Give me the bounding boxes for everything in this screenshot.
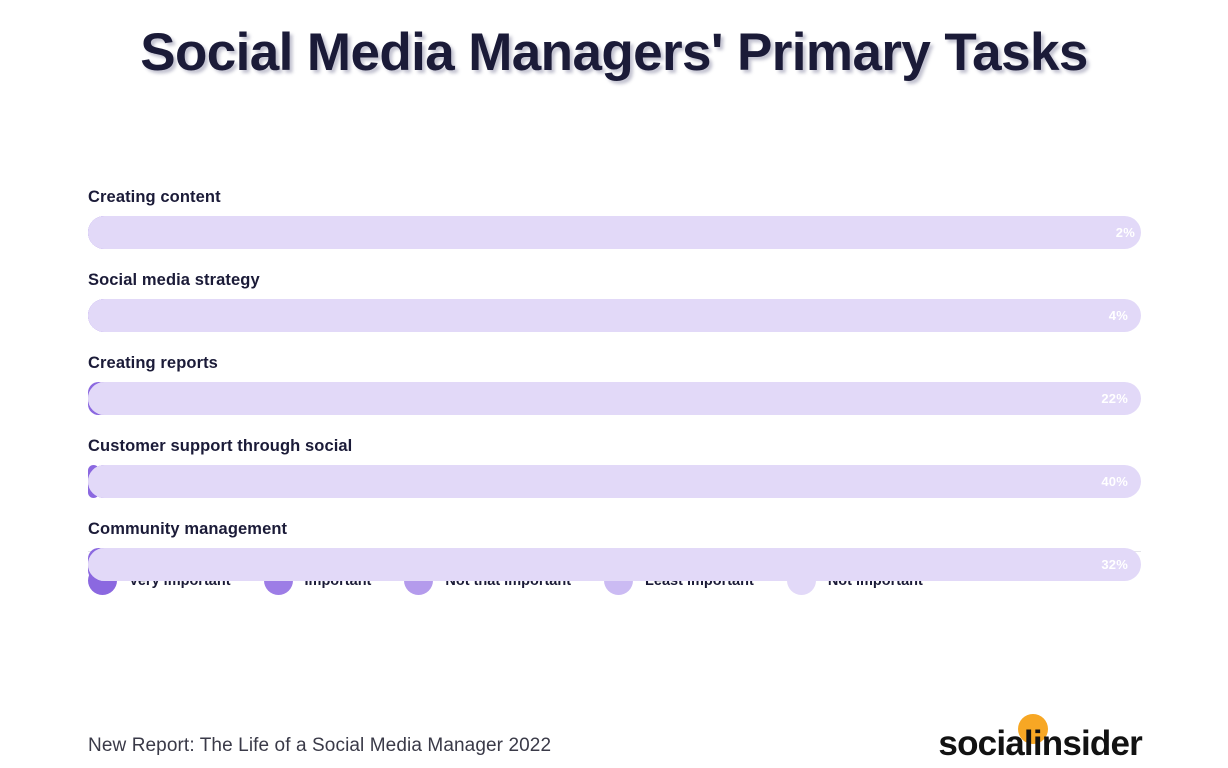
logo-text: socialinsider — [938, 724, 1142, 763]
stacked-bar-chart: Creating content2%5%8%35%50%Social media… — [88, 188, 1141, 603]
chart-bar: 40%41%15%3%1% — [88, 465, 1141, 498]
chart-bar: 2%5%8%35%50% — [88, 216, 1141, 249]
infographic-page: Social Media Managers' Primary Tasks Cre… — [0, 0, 1228, 768]
page-title: Social Media Managers' Primary Tasks — [0, 22, 1228, 83]
chart-row: Creating reports22%20%45%11%2% — [88, 354, 1141, 415]
chart-bar: 22%20%45%11%2% — [88, 382, 1141, 415]
chart-bar-segment: 40% — [88, 465, 1141, 498]
chart-row-label: Customer support through social — [88, 437, 1141, 456]
chart-row: Community management32%31%24%10%2% — [88, 520, 1141, 581]
chart-row: Social media strategy4%3%7%41%45% — [88, 271, 1141, 332]
chart-row-label: Community management — [88, 520, 1141, 539]
chart-row-label: Creating content — [88, 188, 1141, 207]
chart-bar-segment: 32% — [88, 548, 1141, 581]
chart-bar-segment: 2% — [88, 216, 1141, 249]
chart-bar: 4%3%7%41%45% — [88, 299, 1141, 332]
chart-row: Creating content2%5%8%35%50% — [88, 188, 1141, 249]
chart-row-label: Creating reports — [88, 354, 1141, 373]
chart-bar-segment: 4% — [88, 299, 1141, 332]
socialinsider-logo: socialinsider — [938, 722, 1142, 764]
chart-row-label: Social media strategy — [88, 271, 1141, 290]
chart-bar: 32%31%24%10%2% — [88, 548, 1141, 581]
footer-report-text: New Report: The Life of a Social Media M… — [88, 735, 551, 757]
chart-bar-segment: 22% — [88, 382, 1141, 415]
chart-row: Customer support through social40%41%15%… — [88, 437, 1141, 498]
